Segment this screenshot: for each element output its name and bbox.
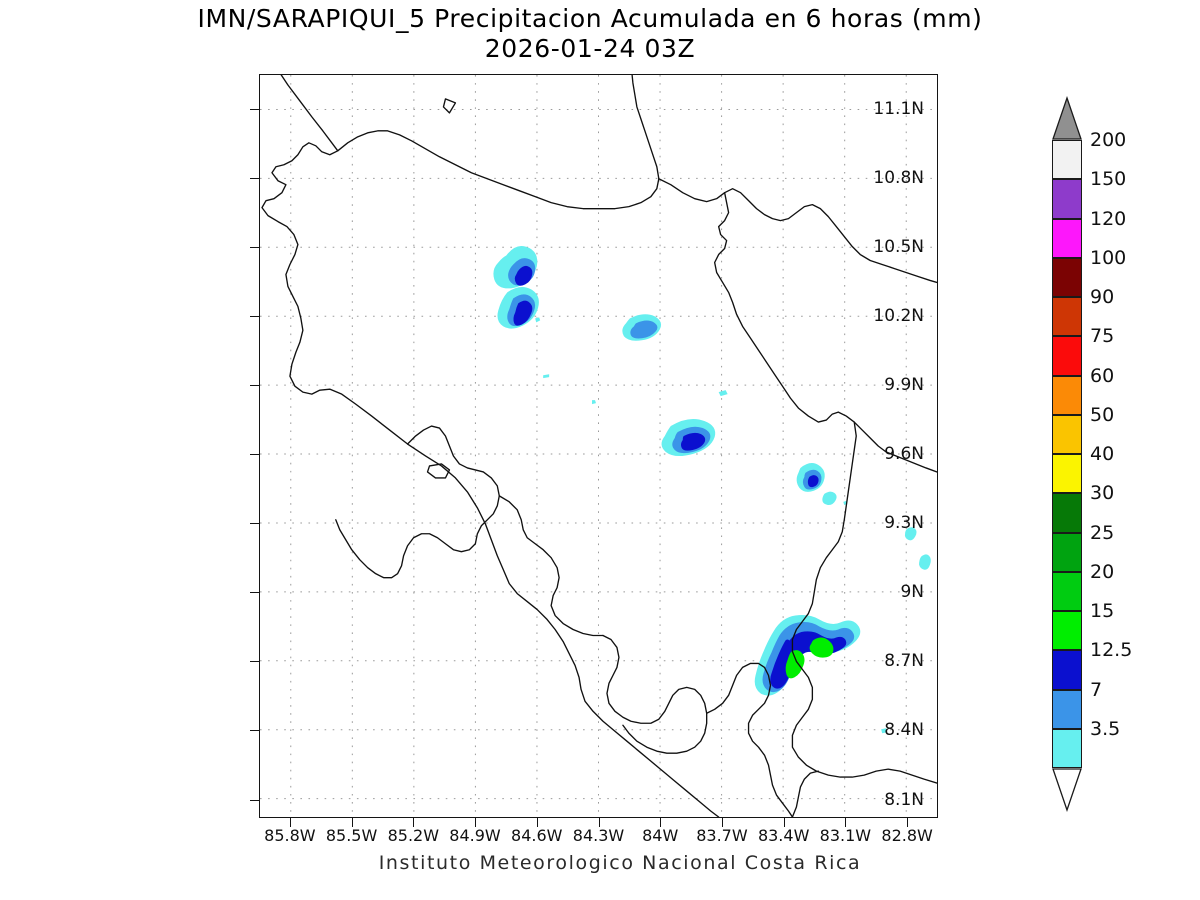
x-axis-label: 85.2W bbox=[388, 826, 439, 845]
y-axis-tick bbox=[250, 592, 259, 593]
colorbar-swatch-3.5[interactable] bbox=[1052, 729, 1082, 768]
colorbar-tick-label: 40 bbox=[1090, 443, 1114, 465]
colorbar-swatch-40[interactable] bbox=[1052, 454, 1082, 493]
y-axis-tick bbox=[250, 661, 259, 662]
precip-contour-layer bbox=[493, 246, 930, 733]
colorbar-tick-label: 150 bbox=[1090, 168, 1126, 190]
precip-fleck-small bbox=[719, 390, 728, 396]
x-axis-label: 83.7W bbox=[696, 826, 747, 845]
x-axis-label: 85.5W bbox=[326, 826, 377, 845]
precip-blob-talamanca bbox=[797, 463, 825, 492]
x-axis-tick bbox=[599, 818, 600, 827]
x-axis-label: 85.8W bbox=[264, 826, 315, 845]
x-axis-label: 83.4W bbox=[758, 826, 809, 845]
colorbar-over-arrow bbox=[1052, 96, 1082, 140]
precip-fleck-small bbox=[535, 317, 540, 322]
footer-credit: Instituto Meteorologico Nacional Costa R… bbox=[0, 852, 1200, 874]
colorbar-tick-label: 100 bbox=[1090, 247, 1126, 269]
colorbar-tick-label: 12.5 bbox=[1090, 639, 1132, 661]
chart-subtitle-datetime: 2026-01-24 03Z bbox=[0, 34, 1180, 64]
y-axis-tick bbox=[250, 730, 259, 731]
x-axis-tick bbox=[290, 818, 291, 827]
y-axis-tick bbox=[250, 454, 259, 455]
precip-fleck-small bbox=[592, 400, 596, 404]
colorbar-swatch-75[interactable] bbox=[1052, 336, 1082, 375]
colorbar-tick-label: 7 bbox=[1090, 679, 1102, 701]
colorbar-swatch-50[interactable] bbox=[1052, 415, 1082, 454]
x-axis-label: 84W bbox=[642, 826, 678, 845]
isla-chira bbox=[428, 464, 450, 478]
colorbar-tick-label: 200 bbox=[1090, 129, 1126, 151]
map-plot-area bbox=[259, 74, 938, 818]
colorbar-swatch-25[interactable] bbox=[1052, 533, 1082, 572]
precipitation-map-page: IMN/SARAPIQUI_5 Precipitacion Acumulada … bbox=[0, 0, 1200, 900]
y-axis-tick bbox=[250, 800, 259, 801]
precip-fleck-small bbox=[822, 492, 836, 505]
island-north-sliver bbox=[443, 99, 455, 113]
caribbean-coastline-southeast bbox=[715, 193, 937, 472]
colorbar-swatch-150[interactable] bbox=[1052, 179, 1082, 218]
precip-blob-tilaran-north bbox=[493, 246, 537, 288]
colorbar-swatch-30[interactable] bbox=[1052, 493, 1082, 532]
coastline-layer bbox=[262, 75, 937, 817]
nicaragua-border-north bbox=[338, 75, 659, 209]
map-canvas bbox=[260, 75, 937, 817]
x-axis-tick bbox=[660, 818, 661, 827]
map-geography bbox=[260, 75, 937, 817]
x-axis-label: 84.3W bbox=[573, 826, 624, 845]
y-axis-tick bbox=[250, 247, 259, 248]
punta-burica-coastline bbox=[792, 771, 818, 817]
x-axis-label: 82.8W bbox=[881, 826, 932, 845]
y-axis-tick bbox=[250, 178, 259, 179]
colorbar-tick-label: 15 bbox=[1090, 600, 1114, 622]
precip-blob-tilaran-south bbox=[497, 287, 538, 329]
precip-fleck-small bbox=[543, 374, 549, 378]
colorbar-tick-label: 75 bbox=[1090, 325, 1114, 347]
nicoya-peninsula-coastline bbox=[336, 426, 500, 578]
x-axis-tick bbox=[475, 818, 476, 827]
colorbar-swatch-60[interactable] bbox=[1052, 376, 1082, 415]
colorbar-tick-label: 25 bbox=[1090, 522, 1114, 544]
colorbar-tick-label: 120 bbox=[1090, 208, 1126, 230]
page-title: IMN/SARAPIQUI_5 Precipitacion Acumulada … bbox=[0, 4, 1180, 34]
colorbar-swatch-90[interactable] bbox=[1052, 297, 1082, 336]
colorbar-swatch-20[interactable] bbox=[1052, 572, 1082, 611]
pacific-coastline-west bbox=[262, 75, 719, 817]
colorbar-swatch-15[interactable] bbox=[1052, 611, 1082, 650]
x-axis-tick bbox=[722, 818, 723, 827]
x-axis-tick bbox=[784, 818, 785, 827]
y-axis-tick bbox=[250, 109, 259, 110]
colorbar-swatch-120[interactable] bbox=[1052, 219, 1082, 258]
x-axis-tick bbox=[537, 818, 538, 827]
pacific-coastline-central bbox=[499, 496, 603, 636]
precip-fleck-small bbox=[919, 554, 931, 569]
colorbar-legend[interactable]: 20015012010090756050403025201512.573.5 bbox=[1052, 96, 1082, 812]
x-axis-label: 84.6W bbox=[511, 826, 562, 845]
caribbean-coastline-north bbox=[659, 179, 937, 283]
colorbar-tick-label: 30 bbox=[1090, 482, 1114, 504]
x-axis-tick bbox=[907, 818, 908, 827]
colorbar-swatch-200[interactable] bbox=[1052, 140, 1082, 179]
x-axis-label: 84.9W bbox=[449, 826, 500, 845]
colorbar-tick-label: 90 bbox=[1090, 286, 1114, 308]
colorbar-tick-label: 60 bbox=[1090, 365, 1114, 387]
x-axis-tick bbox=[413, 818, 414, 827]
chart-title-block: IMN/SARAPIQUI_5 Precipitacion Acumulada … bbox=[0, 4, 1180, 64]
x-axis-label: 83.1W bbox=[820, 826, 871, 845]
y-axis-tick bbox=[250, 385, 259, 386]
colorbar-tick-label: 50 bbox=[1090, 404, 1114, 426]
colorbar-under-arrow bbox=[1052, 768, 1082, 812]
osa-peninsula-coastline bbox=[603, 635, 707, 753]
precip-blob-turrialba bbox=[662, 419, 716, 456]
colorbar-swatch-12.5[interactable] bbox=[1052, 650, 1082, 689]
precip-fleck-small bbox=[881, 728, 887, 733]
colorbar-tick-label: 20 bbox=[1090, 561, 1114, 583]
colorbar-swatch-100[interactable] bbox=[1052, 258, 1082, 297]
colorbar-tick-label: 3.5 bbox=[1090, 718, 1120, 740]
colorbar-swatch-7[interactable] bbox=[1052, 690, 1082, 729]
precip-fleck-small bbox=[905, 527, 917, 540]
x-axis-tick bbox=[845, 818, 846, 827]
x-axis-tick bbox=[352, 818, 353, 827]
precip-blob-limon-north bbox=[622, 314, 661, 341]
y-axis-tick bbox=[250, 316, 259, 317]
y-axis-tick bbox=[250, 523, 259, 524]
